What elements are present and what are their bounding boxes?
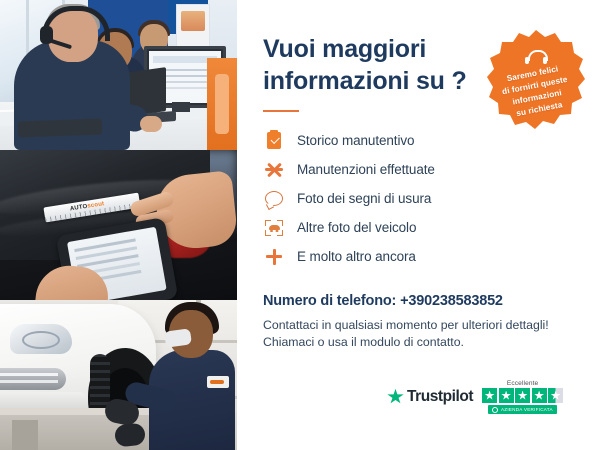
foreground-keyboard (18, 119, 103, 138)
feature-label: Altre foto del veicolo (297, 220, 416, 235)
plus-icon (263, 246, 285, 268)
trustpilot-wordmark: Trustpilot (407, 388, 473, 406)
content-panel: Vuoi maggiori informazioni su ? Saremo f… (237, 0, 600, 450)
rating-star-filled (482, 388, 497, 403)
phone-block: Numero di telefono:+390238583852 Contatt… (263, 293, 574, 352)
rating-star-filled (532, 388, 547, 403)
car-grille (0, 368, 66, 390)
rating-star-filled (515, 388, 530, 403)
contact-subtext-line-2: Chiamaci o usa il modulo di contatto. (263, 334, 574, 351)
headset-icon (525, 50, 547, 66)
contact-subtext: Contattaci in qualsiasi momento per ulte… (263, 317, 574, 352)
feature-label: Manutenzioni effettuate (297, 162, 435, 177)
page-title: Vuoi maggiori informazioni su ? (263, 34, 478, 97)
phone-line[interactable]: Numero di telefono:+390238583852 (263, 293, 574, 309)
feature-item-foto-segni-usura[interactable]: Foto dei segni di usura (263, 184, 574, 213)
wall-poster (176, 4, 210, 50)
feature-label: E molto altro ancora (297, 249, 416, 264)
headline-line-2: informazioni su ? (263, 67, 467, 95)
speech-bubble-icon (263, 188, 285, 210)
feature-item-manutenzioni-effettuate[interactable]: Manutenzioni effettuate (263, 155, 574, 184)
checklist-document-icon (263, 130, 285, 152)
photo-column: AUTOscout (0, 0, 237, 450)
orange-equipment-rack (207, 58, 237, 150)
phone-number[interactable]: +390238583852 (400, 293, 503, 309)
cross-tool-icon (263, 159, 285, 181)
rating-star-half (548, 388, 563, 403)
contact-subtext-line-1: Contattaci in qualsiasi momento per ulte… (263, 317, 574, 334)
vehicle-lift-post (12, 420, 38, 450)
headline-line-1: Vuoi maggiori (263, 35, 426, 63)
feature-label: Storico manutentivo (297, 133, 414, 148)
trustpilot-star-icon (387, 389, 404, 405)
trustpilot-star-rating (482, 388, 563, 403)
verified-company-badge: AZIENDA VERIFICATA (488, 405, 556, 414)
feature-label: Foto dei segni di usura (297, 191, 431, 206)
trustpilot-rating-label: Eccellente (507, 380, 538, 387)
photo-mechanic-inspecting-white-car-on-lift (0, 300, 237, 450)
car-scan-frame-icon (263, 217, 285, 239)
photo-technician-measuring-dark-car-with-tablet: AUTOscout (0, 150, 237, 300)
feature-item-altre-foto-veicolo[interactable]: Altre foto del veicolo (263, 213, 574, 242)
contact-info-banner: AUTOscout (0, 0, 600, 450)
promo-burst-badge: Saremo felici di fornirti queste informa… (484, 28, 588, 132)
feature-item-molto-altro[interactable]: E molto altro ancora (263, 242, 574, 271)
uniform-logo-patch (207, 376, 229, 388)
verified-check-icon (492, 407, 498, 413)
title-underline-rule (263, 110, 299, 112)
verified-badge-label: AZIENDA VERIFICATA (501, 407, 553, 412)
feature-list: Storico manutentivo Manutenzioni effettu… (263, 126, 574, 271)
trustpilot-score-block: Eccellente AZIENDA VERIFICATA (482, 380, 563, 415)
photo-call-center-agents-with-headsets (0, 0, 237, 150)
trustpilot-logo: Trustpilot (387, 388, 473, 406)
trustpilot-rating-widget[interactable]: Trustpilot Eccellente AZIENDA VERIFICATA (387, 380, 563, 415)
phone-label: Numero di telefono: (263, 293, 396, 309)
rating-star-filled (499, 388, 514, 403)
mechanic-figure (149, 350, 235, 450)
car-headlight (10, 324, 72, 354)
